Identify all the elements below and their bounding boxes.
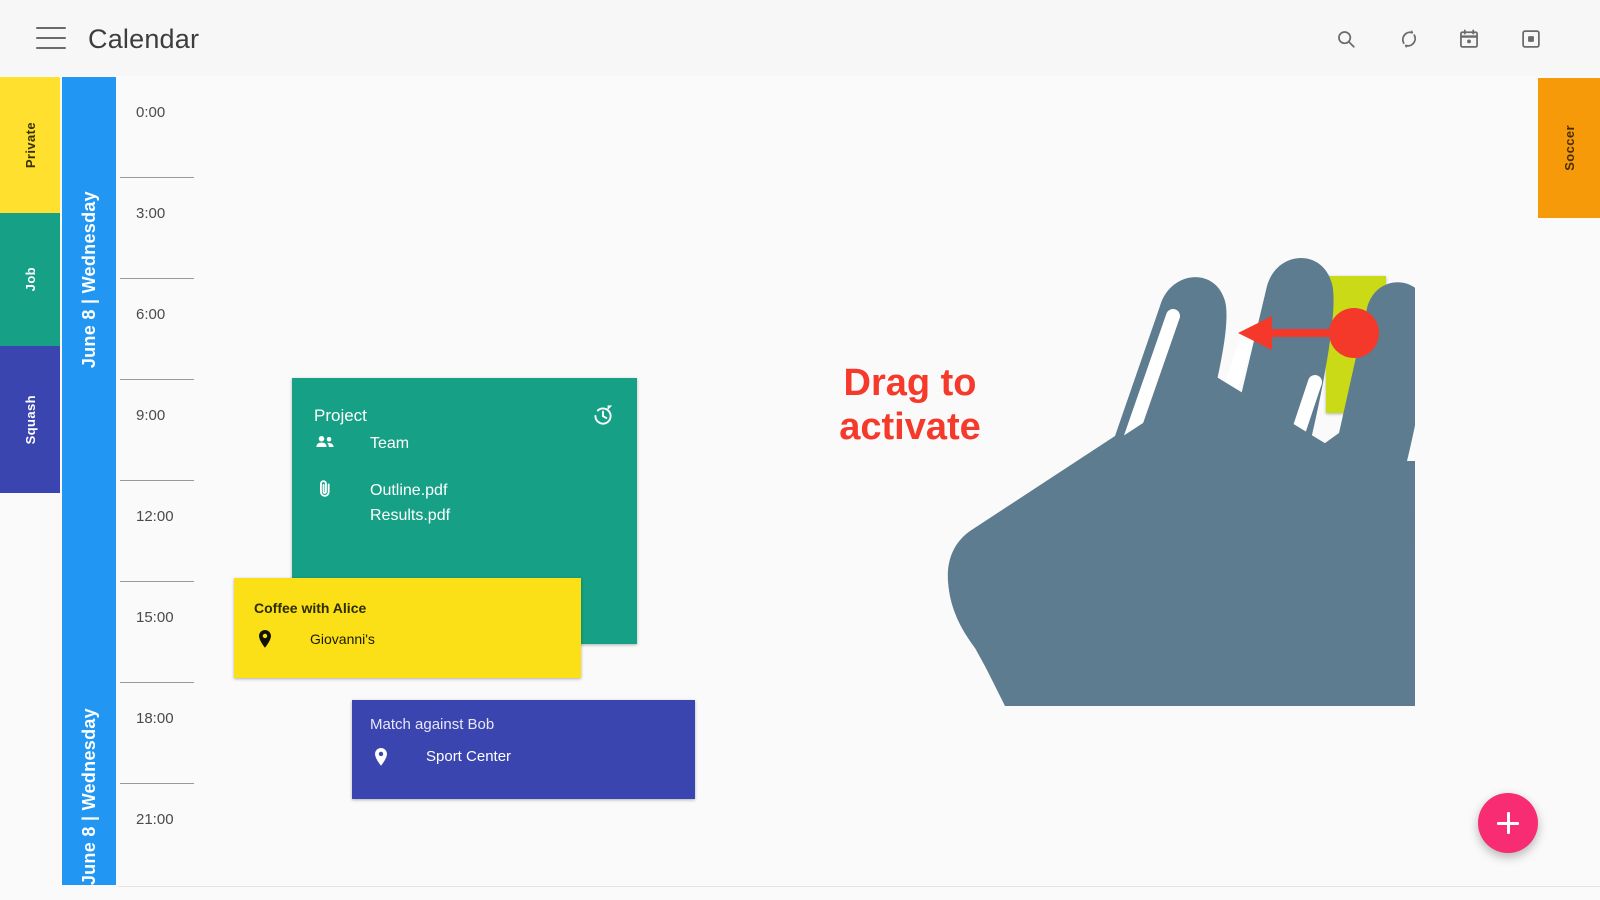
grid-line [120,480,194,481]
time-label: 3:00 [136,205,165,222]
category-tab-squash[interactable]: Squash [0,346,60,493]
sync-icon[interactable] [1390,20,1428,58]
plus-icon [1507,812,1510,834]
time-slot[interactable]: 18:00 [118,682,1600,783]
event-location-row: Sport Center [370,746,511,768]
event-location-text: Sport Center [404,746,511,768]
event-card-match[interactable]: Match against Bob Sport Center [352,700,695,799]
time-label: 15:00 [136,609,174,626]
grid-line [120,783,194,784]
hamburger-line [36,37,66,39]
event-card-coffee[interactable]: Coffee with Alice Giovanni's [234,578,581,678]
add-event-button[interactable] [1478,793,1538,853]
search-icon[interactable] [1327,20,1365,58]
view-mode-icon[interactable] [1512,20,1550,58]
people-icon [314,431,336,453]
time-label: 12:00 [136,508,174,525]
event-title: Project [314,406,367,426]
grid-line [120,278,194,279]
location-pin-icon [254,628,276,650]
time-label: 18:00 [136,710,174,727]
time-label: 0:00 [136,104,165,121]
category-tab-job[interactable]: Job [0,213,60,346]
event-title: Match against Bob [370,716,494,733]
time-label: 6:00 [136,306,165,323]
grid-line [120,177,194,178]
category-tab-private[interactable]: Private [0,77,60,213]
event-card-hidden[interactable] [1326,276,1386,413]
time-slot[interactable]: 0:00 [118,76,1600,177]
event-location-text: Giovanni's [288,628,375,650]
time-slot[interactable]: 21:00 [118,783,1600,884]
calendar-today-icon[interactable] [1450,20,1488,58]
event-location-row: Giovanni's [254,628,375,650]
category-tab-label: Job [23,267,38,291]
category-tab-soccer[interactable]: Soccer [1538,78,1600,218]
category-tab-label: Squash [23,395,38,444]
history-icon[interactable] [591,404,615,428]
grid-line [120,379,194,380]
calendar-app: Calendar [0,0,1600,900]
app-bar: Calendar [0,0,1600,76]
event-attachments-row: Outline.pdf Results.pdf [314,478,450,528]
grid-line [120,682,194,683]
day-label-text: June 8 | Wednesday [79,708,100,885]
attachment-icon [314,478,336,500]
time-slot[interactable]: 3:00 [118,177,1600,278]
location-pin-icon [370,746,392,768]
grid-line [120,581,194,582]
time-label: 9:00 [136,407,165,424]
event-attendees-text: Team [348,431,409,456]
category-tab-label: Private [23,122,38,168]
hamburger-line [36,47,66,49]
grid-bottom-divider [118,886,1600,887]
day-label: June 8 | Wednesday [62,637,116,900]
event-attendees-row: Team [314,431,409,456]
category-tab-label: Soccer [1562,125,1577,171]
day-label: June 8 | Wednesday [62,85,116,475]
event-title: Coffee with Alice [254,600,366,616]
day-column[interactable]: June 8 | Wednesday June 8 | Wednesday [62,77,116,885]
hamburger-line [36,27,66,29]
event-attachments-text: Outline.pdf Results.pdf [348,478,450,528]
time-label: 21:00 [136,811,174,828]
hamburger-menu-icon[interactable] [36,27,66,49]
page-title: Calendar [88,24,199,55]
day-label-text: June 8 | Wednesday [79,191,100,368]
